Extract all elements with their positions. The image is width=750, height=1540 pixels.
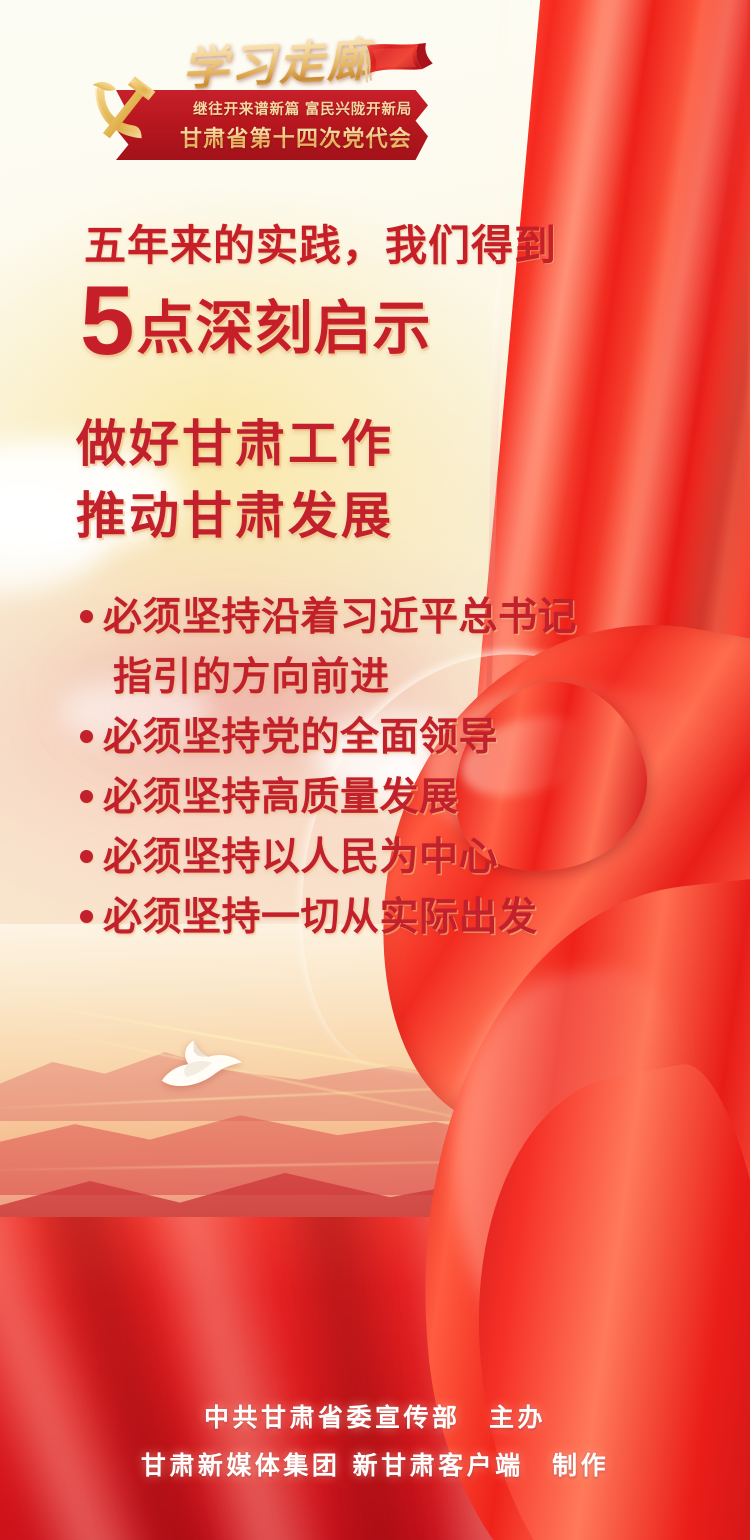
poster-root: 继往开来谱新篇 富民兴陇开新局 甘肃省第十四次党代会 学习走廊 [0,0,750,1540]
list-item-label: 必须坚持一切从实际出发 [103,897,538,940]
bullet-dot-icon [80,910,93,923]
red-flag-icon [358,42,436,105]
bullet-dot-icon [80,790,93,803]
list-item: 必须坚持高质量发展 [76,768,656,828]
list-item-label: 必须坚持高质量发展 [103,777,459,820]
list-item-label: 必须坚持党的全面领导 [103,717,498,760]
list-item-label: 必须坚持以人民为中心 [103,837,498,880]
headline-block: 5 点深刻启示 [80,278,432,362]
list-item-label: 必须坚持沿着习近平总书记 [103,597,577,640]
list-item: 必须坚持一切从实际出发 [76,888,656,948]
poster-content: 五年来的实践，我们得到 5 点深刻启示 做好甘肃工作 推动甘肃发展 必须坚持沿着… [0,0,750,1540]
list-item: 必须坚持沿着习近平总书记 [76,588,656,648]
header-banner-line2: 甘肃省第十四次党代会 [180,121,412,153]
bullet-dot-icon [80,610,93,623]
lead-text: 五年来的实践，我们得到 [84,212,557,273]
header-calligraphy-title: 学习走廊 [180,23,375,99]
footer-credits: 中共甘肃省委宣传部 主办 甘肃新媒体集团 新甘肃客户端 制作 [0,1398,750,1482]
subtitle-line-1: 做好甘肃工作 [76,404,394,476]
headline-rest: 点深刻启示 [137,300,432,362]
subtitle-line-2: 推动甘肃发展 [76,476,394,548]
party-hammer-sickle-emblem [78,66,164,152]
bullet-dot-icon [80,850,93,863]
headline-number: 5 [80,278,135,362]
list-item-continuation: 指引的方向前进 [113,648,656,708]
bullet-dot-icon [80,730,93,743]
footer-line-2: 甘肃新媒体集团 新甘肃客户端 制作 [141,1446,609,1482]
insights-list: 必须坚持沿着习近平总书记 指引的方向前进 必须坚持党的全面领导 必须坚持高质量发… [76,588,656,948]
footer-line-1: 中共甘肃省委宣传部 主办 [204,1398,546,1434]
list-item: 必须坚持以人民为中心 [76,828,656,888]
list-item: 必须坚持党的全面领导 [76,708,656,768]
